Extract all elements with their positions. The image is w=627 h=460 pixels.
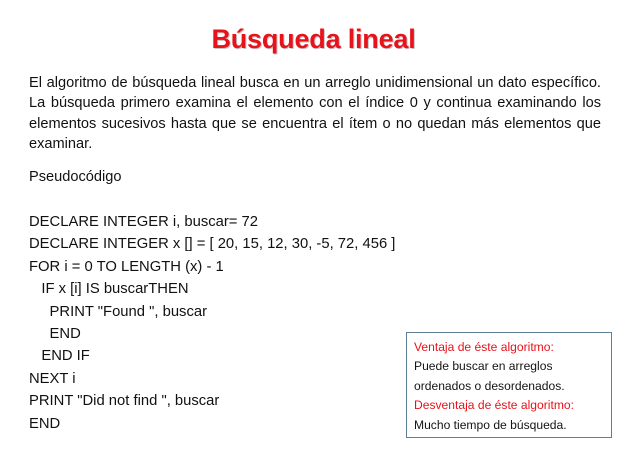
pseudocode-line: FOR i = 0 TO LENGTH (x) - 1: [29, 256, 459, 278]
pseudocode-block: DECLARE INTEGER i, buscar= 72DECLARE INT…: [29, 211, 459, 435]
pseudocode-line: PRINT "Did not find ", buscar: [29, 390, 459, 412]
pseudocode-line: IF x [i] IS buscarTHEN: [29, 278, 459, 300]
pseudocode-line: NEXT i: [29, 368, 459, 390]
callout-label: Ventaja de éste algoritmo:: [414, 338, 605, 357]
pseudocode-line: DECLARE INTEGER i, buscar= 72: [29, 211, 459, 233]
pseudocode-line: END: [29, 413, 459, 435]
callout-text: Mucho tiempo de búsqueda.: [414, 416, 605, 435]
page-title: Búsqueda lineal: [0, 24, 627, 55]
callout-text: ordenados o desordenados.: [414, 377, 605, 396]
pseudocode-line: PRINT "Found ", buscar: [29, 301, 459, 323]
intro-paragraph: El algoritmo de búsqueda lineal busca en…: [29, 73, 601, 155]
pseudocode-line: DECLARE INTEGER x [] = [ 20, 15, 12, 30,…: [29, 233, 459, 255]
pseudocode-heading: Pseudocódigo: [29, 167, 122, 188]
callout-label: Desventaja de éste algoritmo:: [414, 396, 605, 415]
pseudocode-line: END IF: [29, 345, 459, 367]
callout-box: Ventaja de éste algoritmo:Puede buscar e…: [406, 332, 612, 438]
slide-canvas: Búsqueda lineal El algoritmo de búsqueda…: [0, 0, 627, 460]
pseudocode-line: END: [29, 323, 459, 345]
callout-text: Puede buscar en arreglos: [414, 357, 605, 376]
